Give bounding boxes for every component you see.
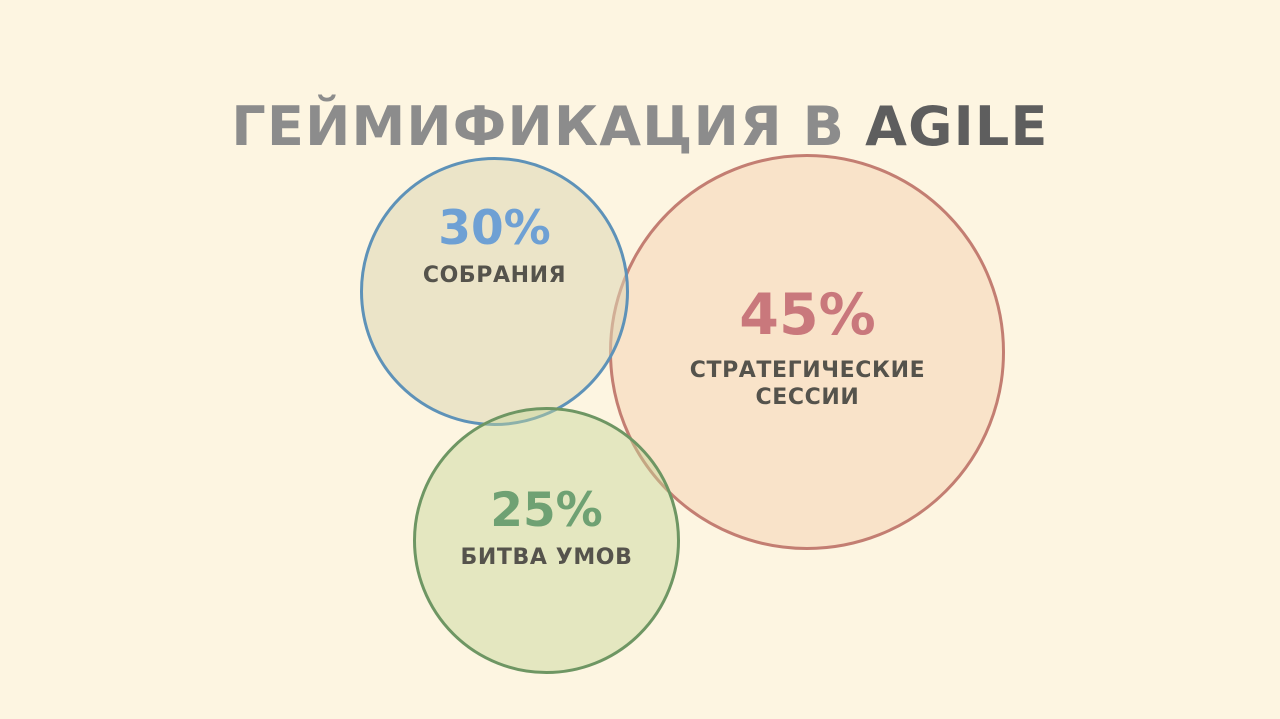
venn-circle-meetings[interactable] bbox=[360, 157, 629, 426]
venn-circle-battle-of-minds[interactable] bbox=[413, 407, 680, 674]
venn-diagram: 30% СОБРАНИЯ 45% СТРАТЕГИЧЕСКИЕ СЕССИИ 2… bbox=[0, 0, 1280, 719]
slide-canvas: ГЕЙМИФИКАЦИЯ В AGILE 30% СОБРАНИЯ 45% СТ… bbox=[0, 0, 1280, 719]
